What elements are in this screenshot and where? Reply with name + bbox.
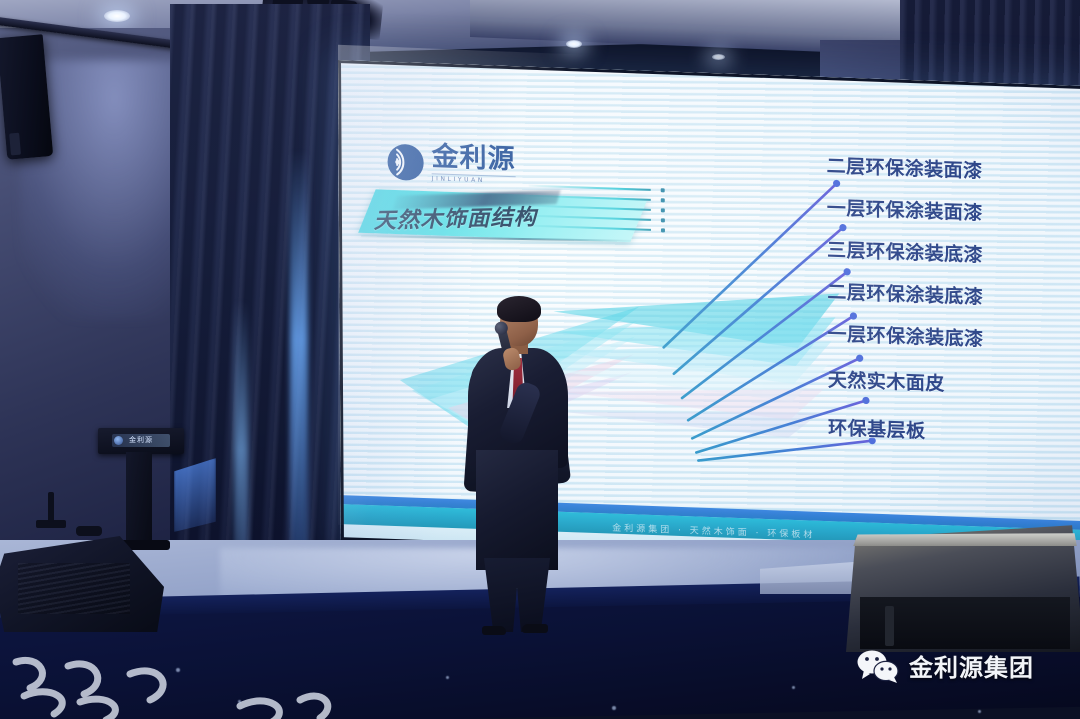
layer-label-list: 二层环保涂装面漆 一层环保涂装面漆 三层环保涂装底漆 二层环保涂装底漆 一层环保…: [826, 151, 1078, 449]
concentric-arc-logo-icon: [114, 436, 123, 445]
ceiling-spotlight: [566, 40, 582, 48]
speaker-grill: [18, 563, 130, 614]
wechat-icon: [856, 649, 900, 683]
list-item: 天然实木面皮: [828, 365, 1078, 401]
ceiling-spotlight: [712, 54, 725, 60]
presenter: [452, 300, 572, 630]
presenter-torso: [476, 450, 558, 570]
list-item: 一层环保涂装面漆: [827, 193, 1077, 229]
wechat-watermark: 金利源集团: [856, 648, 1034, 683]
presenter-shoe: [482, 626, 506, 635]
presenter-legs: [484, 558, 550, 632]
screenshot-root: 金利源 JINLIYUAN 天然木饰面结构: [0, 0, 1080, 719]
podium-blue-light: [174, 458, 216, 532]
pointer-line: [663, 177, 838, 353]
list-item: 三层环保涂装底漆: [827, 235, 1077, 271]
list-item: 一层环保涂装底漆: [827, 319, 1077, 355]
presenter-shoe: [522, 624, 548, 633]
watermark-label: 金利源集团: [909, 648, 1034, 683]
foreground-calligraphy-decor: [10, 644, 340, 719]
ceiling-spotlight: [104, 10, 130, 22]
podium: 金利源: [98, 428, 184, 546]
brand-name-cn: 金利源: [431, 143, 515, 173]
stage-monitor-speaker-right: [846, 520, 1080, 652]
curtain-blue-light: [290, 150, 308, 570]
concentric-arc-logo-icon: [386, 142, 424, 181]
list-item: 二层环保涂装底漆: [827, 277, 1077, 313]
slide-brand-logo: 金利源 JINLIYUAN: [386, 142, 515, 186]
podium-brand-logo: 金利源: [112, 434, 170, 447]
pointer-line: [673, 222, 844, 380]
presenter-hair: [497, 296, 541, 322]
stage-monitor-speaker-left: [0, 534, 164, 632]
speaker-grill: [860, 597, 1069, 650]
led-video-wall: 金利源 JINLIYUAN 天然木饰面结构: [338, 60, 1080, 566]
